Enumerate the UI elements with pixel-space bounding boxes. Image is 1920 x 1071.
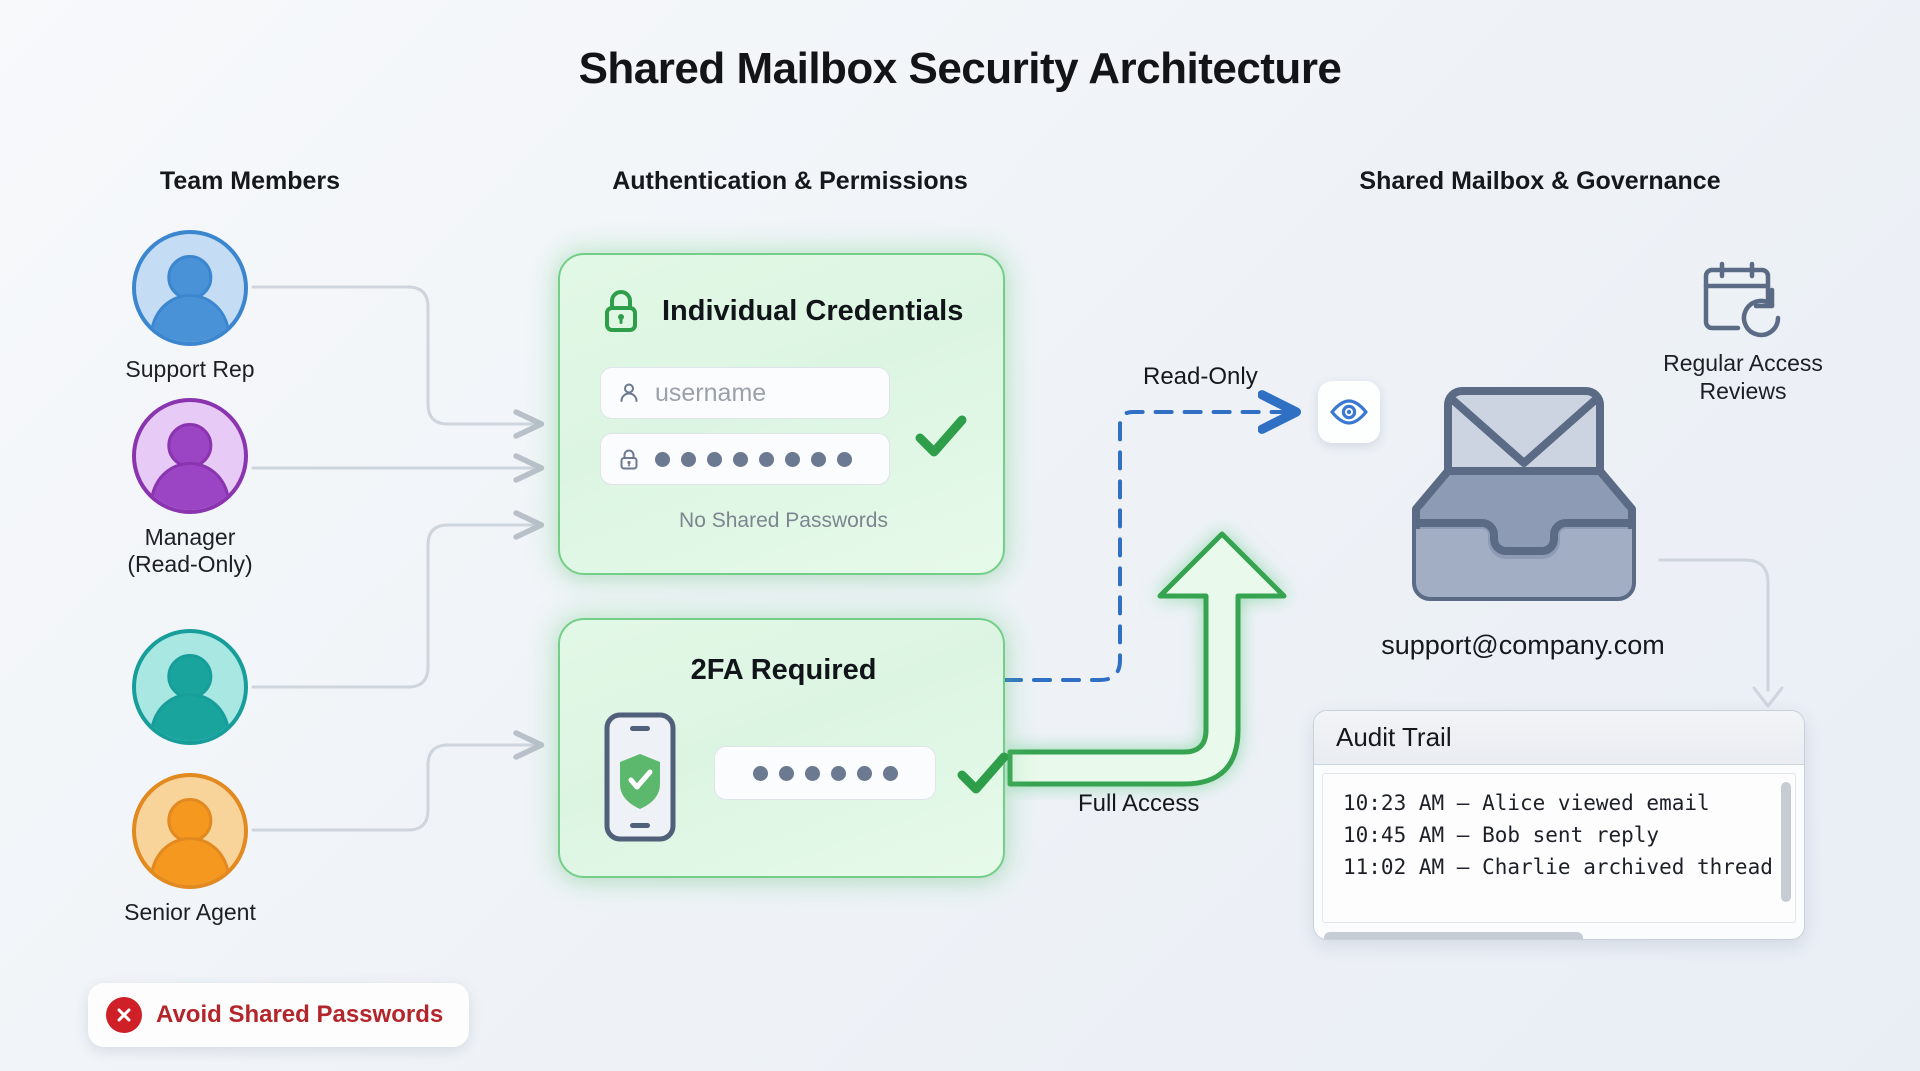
- eye-icon-tile[interactable]: [1318, 381, 1380, 443]
- diagram-canvas: Shared Mailbox Security Architecture Tea…: [0, 0, 1920, 1071]
- full-access-label: Full Access: [1078, 790, 1199, 818]
- column-header-governance: Shared Mailbox & Governance: [1180, 167, 1900, 196]
- individual-credentials-card[interactable]: Individual Credentials username: [558, 253, 1005, 575]
- connector-read-only: [1005, 412, 1290, 680]
- twofa-required-card[interactable]: 2FA Required: [558, 618, 1005, 878]
- audit-horizontal-scrollbar-track[interactable]: [1324, 929, 1794, 940]
- warning-badge-wrapper: Avoid Shared Passwords: [88, 983, 469, 1047]
- audit-vertical-scrollbar[interactable]: [1781, 782, 1791, 902]
- username-input[interactable]: username: [600, 367, 890, 419]
- team-member-label-line1: Manager: [105, 524, 275, 551]
- connector-support-rep: [253, 287, 540, 424]
- x-circle-icon: [106, 997, 142, 1033]
- inbox-tray-envelope-icon[interactable]: [1378, 383, 1668, 613]
- person-icon: [617, 381, 641, 405]
- team-member-label: Support Rep: [105, 356, 275, 383]
- warning-label: Avoid Shared Passwords: [156, 1001, 443, 1029]
- phone-shield-icon: [604, 712, 676, 842]
- twofa-code-input[interactable]: [714, 746, 936, 800]
- avatar: [132, 230, 248, 346]
- audit-entry: 11:02 AM – Charlie archived thread: [1343, 852, 1775, 884]
- card-title: 2FA Required: [560, 654, 1007, 687]
- team-member-senior-agent[interactable]: Senior Agent: [105, 773, 275, 926]
- team-member-3[interactable]: [105, 629, 275, 745]
- reviews-label-line1: Regular Access: [1613, 350, 1873, 378]
- green-check-icon: [910, 405, 972, 467]
- audit-entry: 10:23 AM – Alice viewed email: [1343, 788, 1775, 820]
- avatar: [132, 398, 248, 514]
- username-placeholder: username: [655, 379, 766, 408]
- connector-mailbox-audit: [1660, 560, 1768, 690]
- mailbox-email-label: support@company.com: [1313, 630, 1733, 661]
- green-check-icon: [952, 742, 1014, 804]
- connector-team-member-3: [253, 525, 540, 687]
- lock-small-icon: [617, 447, 641, 471]
- column-header-team-members: Team Members: [40, 167, 460, 196]
- team-member-label-line2: (Read-Only): [105, 551, 275, 578]
- eye-icon: [1330, 398, 1368, 426]
- team-member-manager[interactable]: Manager (Read-Only): [105, 398, 275, 578]
- page-title: Shared Mailbox Security Architecture: [0, 44, 1920, 94]
- team-member-label: Manager (Read-Only): [105, 524, 275, 578]
- regular-access-reviews-label: Regular Access Reviews: [1613, 350, 1873, 405]
- no-shared-passwords-note: No Shared Passwords: [560, 509, 1007, 533]
- twofa-masked-value: [753, 766, 898, 781]
- card-title: Individual Credentials: [662, 295, 963, 328]
- password-input[interactable]: [600, 433, 890, 485]
- avoid-shared-passwords-badge[interactable]: Avoid Shared Passwords: [88, 983, 469, 1047]
- team-member-label: Senior Agent: [105, 899, 275, 926]
- lock-icon: [600, 288, 642, 334]
- connector-senior-agent: [253, 745, 540, 830]
- audit-entry: 10:45 AM – Bob sent reply: [1343, 820, 1775, 852]
- audit-trail-body: 10:23 AM – Alice viewed email 10:45 AM –…: [1322, 773, 1796, 923]
- connector-mailbox-audit-arrowhead: [1754, 688, 1782, 706]
- column-header-authentication: Authentication & Permissions: [470, 167, 1110, 196]
- password-masked-value: [655, 452, 852, 467]
- calendar-refresh-icon: [1700, 260, 1786, 342]
- reviews-label-line2: Reviews: [1613, 378, 1873, 406]
- audit-trail-panel[interactable]: Audit Trail 10:23 AM – Alice viewed emai…: [1313, 710, 1805, 940]
- team-member-support-rep[interactable]: Support Rep: [105, 230, 275, 383]
- avatar: [132, 773, 248, 889]
- audit-trail-title: Audit Trail: [1336, 722, 1452, 753]
- audit-horizontal-scrollbar[interactable]: [1324, 932, 1583, 940]
- avatar: [132, 629, 248, 745]
- audit-trail-header: Audit Trail: [1314, 711, 1804, 765]
- read-only-label: Read-Only: [1143, 363, 1258, 391]
